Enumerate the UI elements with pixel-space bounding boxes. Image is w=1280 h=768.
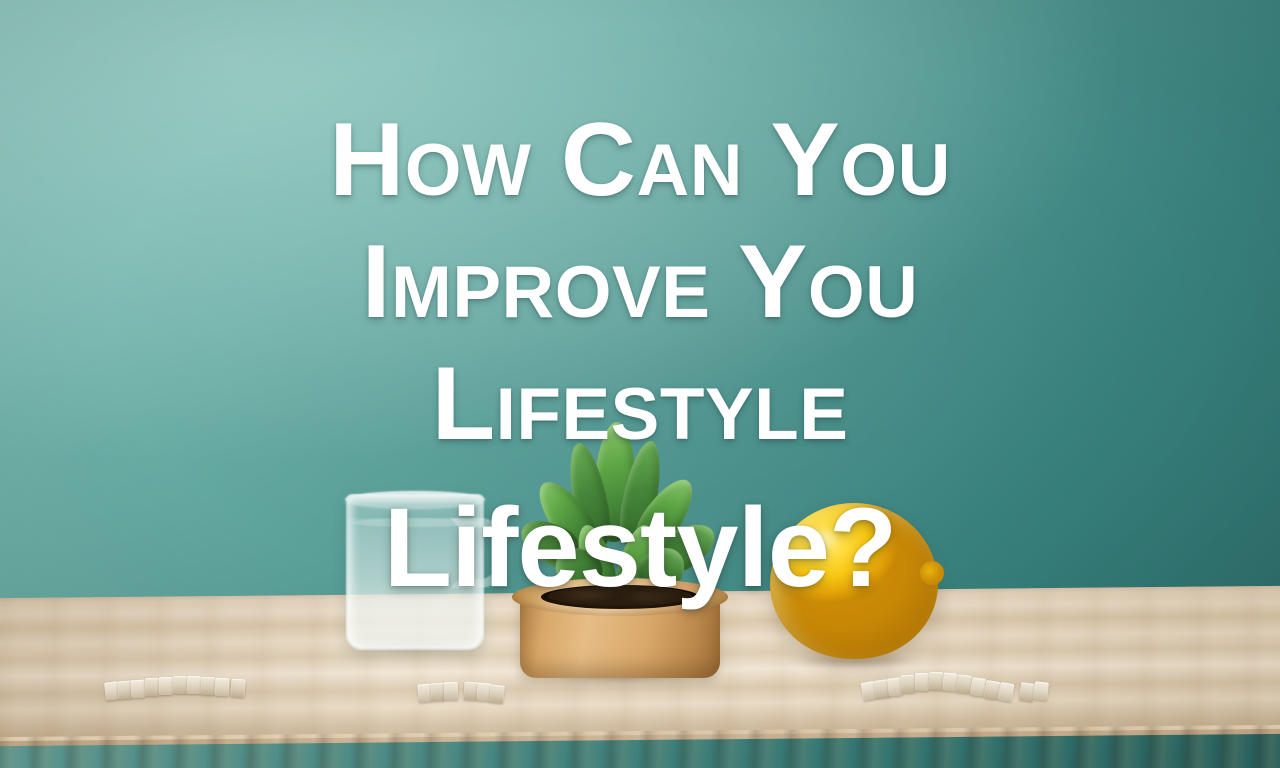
banner-image: How Can You Improve You Lifestyle Lifest… xyxy=(0,0,1280,768)
headline-line-3: Lifestyle xyxy=(0,352,1280,456)
headline-line-2: Improve You xyxy=(0,230,1280,334)
headline-line-1: How Can You xyxy=(0,108,1280,212)
headline-line-4: Lifestyle? xyxy=(0,492,1280,604)
headline-overlay: How Can You Improve You Lifestyle Lifest… xyxy=(0,0,1280,768)
